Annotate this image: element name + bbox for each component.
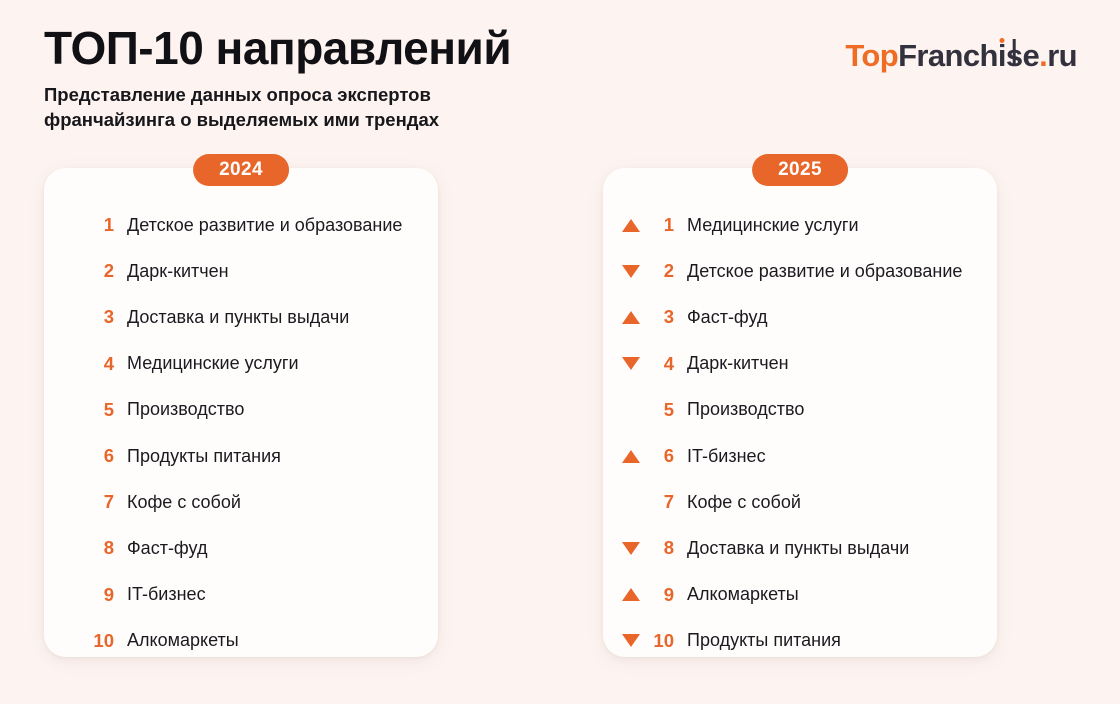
trend-up-triangle — [622, 450, 640, 463]
rank-row[interactable]: 6Продукты питания — [56, 433, 438, 479]
rank-label: Доставка и пункты выдачи — [127, 307, 349, 328]
trend-up-icon — [616, 588, 646, 601]
rank-number: 8 — [646, 537, 674, 559]
rank-number: 4 — [646, 353, 674, 375]
rank-label: Кофе с собой — [127, 492, 241, 513]
rank-label: Медицинские услуги — [127, 353, 299, 374]
rank-number: 1 — [86, 214, 114, 236]
rank-label: IT-бизнес — [687, 446, 766, 467]
rank-number: 2 — [646, 260, 674, 282]
logo-i-dot-icon — [999, 38, 1004, 43]
rank-row[interactable]: 6IT-бизнес — [616, 433, 997, 479]
subtitle-line-2: франчайзинга о выделяемых ими трендах — [44, 108, 644, 132]
rank-number: 3 — [646, 306, 674, 328]
subtitle-line-1: Представление данных опроса экспертов — [44, 83, 644, 107]
page-title: ТОП-10 направлений — [44, 24, 644, 72]
header: ТОП-10 направлений Представление данных … — [44, 24, 644, 132]
trend-down-icon — [616, 265, 646, 278]
rank-row[interactable]: 7Кофе с собой — [56, 479, 438, 525]
logo-dot: . — [1039, 38, 1047, 73]
trend-down-triangle — [622, 542, 640, 555]
rank-number: 7 — [86, 491, 114, 513]
ranking-card-2024: 2024 1Детское развитие и образование2Дар… — [44, 168, 438, 657]
rank-number: 8 — [86, 537, 114, 559]
logo-text-franch: Franch — [898, 38, 998, 73]
logo-letter-i: i — [998, 40, 1006, 71]
logo-dollar-s-icon: s — [1006, 40, 1023, 71]
logo-i-glyph: i — [998, 38, 1006, 73]
ranking-card-2025: 2025 1Медицинские услуги2Детское развити… — [603, 168, 997, 657]
rank-label: Доставка и пункты выдачи — [687, 538, 909, 559]
rank-number: 1 — [646, 214, 674, 236]
rank-row[interactable]: 9IT-бизнес — [56, 572, 438, 618]
rank-row[interactable]: 2Дарк-китчен — [56, 248, 438, 294]
logo-text-e: e — [1023, 38, 1040, 73]
rank-label: Дарк-китчен — [687, 353, 789, 374]
trend-down-triangle — [622, 357, 640, 370]
rank-number: 10 — [646, 630, 674, 652]
rank-number: 10 — [86, 630, 114, 652]
trend-up-triangle — [622, 588, 640, 601]
logo-text-ru: ru — [1047, 38, 1077, 73]
trend-up-icon — [616, 311, 646, 324]
trend-down-triangle — [622, 634, 640, 647]
rank-label: Детское развитие и образование — [127, 215, 402, 236]
rank-number: 2 — [86, 260, 114, 282]
trend-up-triangle — [622, 219, 640, 232]
rank-number: 9 — [86, 584, 114, 606]
rank-row[interactable]: 2Детское развитие и образование — [616, 248, 997, 294]
rank-number: 4 — [86, 353, 114, 375]
topfranchise-logo[interactable]: TopFranchise.ru — [845, 40, 1077, 71]
rank-row[interactable]: 10Алкомаркеты — [56, 618, 438, 664]
rank-row[interactable]: 8Фаст-фуд — [56, 525, 438, 571]
rank-label: Продукты питания — [687, 630, 841, 651]
trend-down-icon — [616, 542, 646, 555]
rank-row[interactable]: 8Доставка и пункты выдачи — [616, 525, 997, 571]
rank-label: Алкомаркеты — [127, 630, 239, 651]
rank-row[interactable]: 5Производство — [616, 387, 997, 433]
trend-up-triangle — [622, 311, 640, 324]
year-badge-2024: 2024 — [193, 154, 289, 186]
trend-up-icon — [616, 450, 646, 463]
rank-label: Кофе с собой — [687, 492, 801, 513]
rank-row[interactable]: 9Алкомаркеты — [616, 572, 997, 618]
ranking-list-2025: 1Медицинские услуги2Детское развитие и о… — [603, 202, 997, 664]
rank-row[interactable]: 5Производство — [56, 387, 438, 433]
rank-number: 5 — [86, 399, 114, 421]
rank-number: 9 — [646, 584, 674, 606]
rank-label: Алкомаркеты — [687, 584, 799, 605]
rank-row[interactable]: 1Медицинские услуги — [616, 202, 997, 248]
rank-row[interactable]: 4Медицинские услуги — [56, 341, 438, 387]
rank-label: Производство — [687, 399, 804, 420]
rank-row[interactable]: 7Кофе с собой — [616, 479, 997, 525]
rank-label: Фаст-фуд — [127, 538, 207, 559]
rank-label: Детское развитие и образование — [687, 261, 962, 282]
rank-label: Дарк-китчен — [127, 261, 229, 282]
rank-number: 6 — [646, 445, 674, 467]
ranking-list-2024: 1Детское развитие и образование2Дарк-кит… — [44, 202, 438, 664]
rank-row[interactable]: 4Дарк-китчен — [616, 341, 997, 387]
rank-row[interactable]: 10Продукты питания — [616, 618, 997, 664]
rank-label: Медицинские услуги — [687, 215, 859, 236]
rank-number: 3 — [86, 306, 114, 328]
rank-label: Производство — [127, 399, 244, 420]
rank-number: 7 — [646, 491, 674, 513]
rank-label: IT-бизнес — [127, 584, 206, 605]
trend-down-icon — [616, 357, 646, 370]
trend-down-icon — [616, 634, 646, 647]
logo-s-stroke — [1013, 39, 1016, 64]
rank-label: Продукты питания — [127, 446, 281, 467]
year-badge-2025: 2025 — [752, 154, 848, 186]
logo-text-top: Top — [845, 38, 898, 73]
page-subtitle: Представление данных опроса экспертов фр… — [44, 83, 644, 132]
rank-number: 5 — [646, 399, 674, 421]
rank-number: 6 — [86, 445, 114, 467]
trend-up-icon — [616, 219, 646, 232]
rank-label: Фаст-фуд — [687, 307, 767, 328]
rank-row[interactable]: 1Детское развитие и образование — [56, 202, 438, 248]
trend-down-triangle — [622, 265, 640, 278]
rank-row[interactable]: 3Доставка и пункты выдачи — [56, 294, 438, 340]
rank-row[interactable]: 3Фаст-фуд — [616, 294, 997, 340]
